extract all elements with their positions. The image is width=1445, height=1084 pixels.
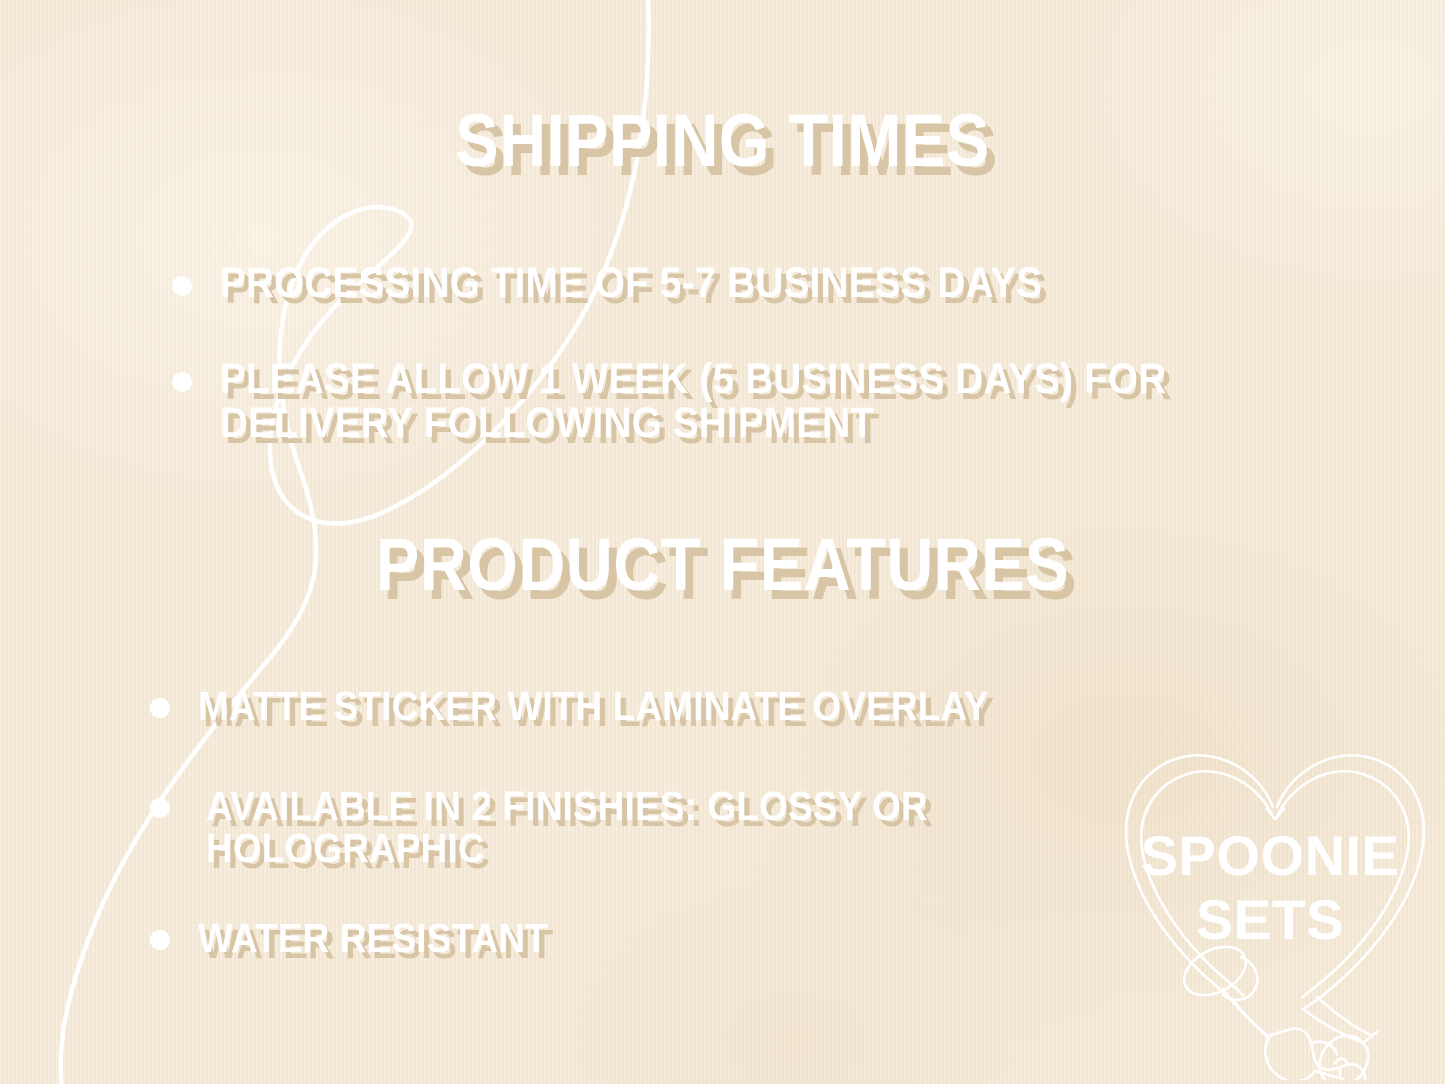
logo-line-two: SETS xyxy=(1095,887,1445,952)
shipping-info-graphic: SHIPPING TIMES PROCESSING TIME OF 5-7 BU… xyxy=(0,0,1445,1084)
section-heading-shipping-times: SHIPPING TIMES xyxy=(87,98,1359,183)
bullet-item: PLEASE ALLOW 1 WEEK (5 BUSINESS DAYS) FO… xyxy=(172,358,1432,446)
bullet-label: PROCESSING TIME OF 5-7 BUSINESS DAYS xyxy=(220,262,1042,306)
bullet-item: MATTE STICKER WITH LAMINATE OVERLAY xyxy=(150,686,1270,728)
section-heading-product-features: PRODUCT FEATURES xyxy=(87,522,1359,607)
bullet-dot-icon xyxy=(172,372,192,392)
logo-line-one: SPOONIE xyxy=(1095,823,1445,888)
earpiece-detail-icon xyxy=(1335,1059,1347,1064)
bullet-dot-icon xyxy=(150,798,170,818)
bullet-label: AVAILABLE IN 2 FINISHIES: GLOSSY OR HOLO… xyxy=(206,786,1101,870)
stethoscope-tube-right-icon xyxy=(1317,997,1371,1035)
stethoscope-tube-left-icon xyxy=(1223,989,1267,1035)
bullet-dot-icon xyxy=(172,276,192,296)
bullet-item: PROCESSING TIME OF 5-7 BUSINESS DAYS xyxy=(172,262,1352,306)
bullet-label: MATTE STICKER WITH LAMINATE OVERLAY xyxy=(198,686,989,728)
bullet-dot-icon xyxy=(150,698,170,718)
spoonie-sets-logo: SPOONIE SETS xyxy=(1095,735,1445,1080)
bullet-label: WATER RESISTANT xyxy=(198,918,548,960)
bullet-label: PLEASE ALLOW 1 WEEK (5 BUSINESS DAYS) FO… xyxy=(220,358,1311,446)
bullet-dot-icon xyxy=(150,930,170,950)
bullet-item: WATER RESISTANT xyxy=(150,918,850,960)
bullet-item: AVAILABLE IN 2 FINISHIES: GLOSSY OR HOLO… xyxy=(150,786,1200,870)
